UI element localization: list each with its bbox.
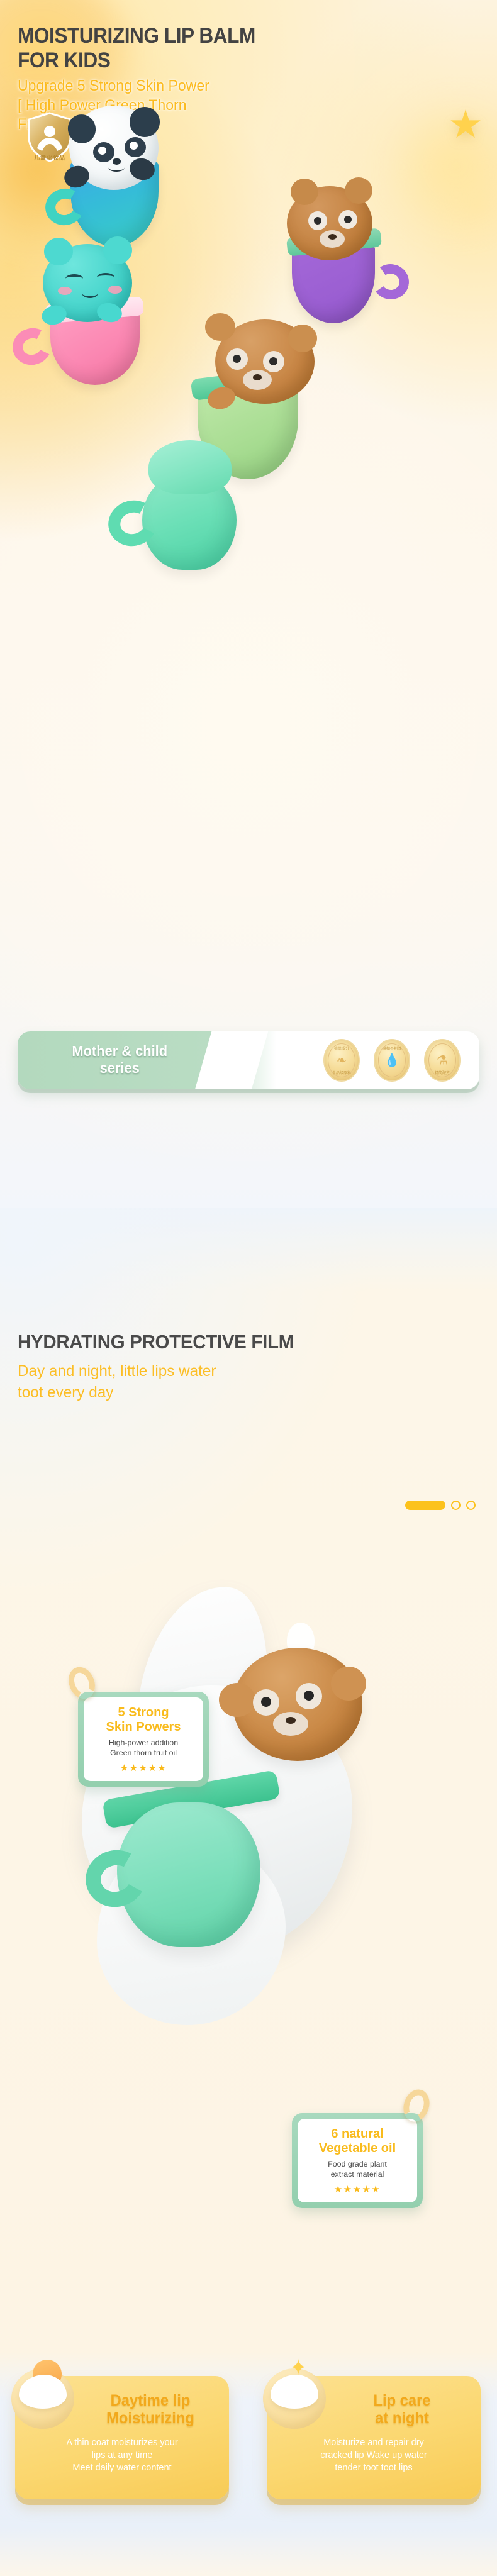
- day-night-benefits-section: Daytime lip Moisturizing A thin coat moi…: [0, 2352, 497, 2576]
- card-title: Daytime lip Moisturizing: [86, 2392, 214, 2427]
- tag-body: High-power addition Green thorn fruit oi…: [89, 1738, 198, 1758]
- eye: [93, 142, 114, 162]
- product-panda-lip-balm: [55, 106, 175, 250]
- eye: [253, 1689, 279, 1716]
- card-title-line-2: at night: [338, 2410, 466, 2428]
- seal-top-text: 温和不刺激: [375, 1045, 409, 1051]
- tag-title-line-2: Skin Powers: [89, 1720, 198, 1735]
- ear: [65, 111, 99, 147]
- rating-stars: ★★★★★: [89, 1762, 198, 1774]
- certification-seal-group: 植萃成分 ❧ 食品级原料 温和不刺激 💧 ⚗ 精简配方: [272, 1039, 461, 1082]
- herbal-ingredient-seal: 植萃成分 ❧ 食品级原料: [323, 1039, 360, 1082]
- star-decoration-icon: ★: [445, 106, 486, 146]
- daytime-lip-moisturizing-card[interactable]: Daytime lip Moisturizing A thin coat moi…: [15, 2376, 229, 2499]
- product-mint-cup-balm: [112, 440, 250, 585]
- character-head: [287, 186, 372, 260]
- eye: [125, 137, 146, 157]
- mother-child-series-banner[interactable]: Mother & child series 植萃成分 ❧ 食品级原料 温和不刺激…: [18, 1031, 479, 1089]
- pagination-dot[interactable]: [451, 1501, 461, 1510]
- ear: [127, 104, 163, 140]
- nose: [253, 374, 262, 380]
- water-drop-icon: 💧: [384, 1053, 400, 1069]
- lip-care-at-night-card[interactable]: ✦ Lip care at night Moisturize and repai…: [267, 2376, 481, 2499]
- tag-body-line-2: extract material: [303, 2169, 412, 2180]
- page-title-line-1: MOISTURIZING LIP BALM: [18, 24, 427, 48]
- card-title: Lip care at night: [338, 2392, 466, 2427]
- cup-handle: [370, 261, 412, 302]
- card-body-line-3: Meet daily water content: [24, 2462, 220, 2474]
- product-teal-bear-pink-cup: [24, 240, 156, 385]
- card-title-line-1: Lip care: [338, 2392, 466, 2410]
- hero-section: MOISTURIZING LIP BALM FOR KIDS Upgrade 5…: [0, 0, 497, 1207]
- section2-subtitle-line-1: Day and night, little lips water: [18, 1361, 396, 1382]
- section2-subtitle-line-2: toot every day: [18, 1382, 396, 1404]
- page-title: MOISTURIZING LIP BALM FOR KIDS: [18, 24, 427, 74]
- banner-label-line-2: series: [39, 1060, 201, 1077]
- card-title-line-1: Daytime lip: [86, 2392, 214, 2410]
- nose: [328, 234, 337, 240]
- carousel-pagination[interactable]: [405, 1501, 476, 1510]
- tag-title-line-1: 6 natural: [303, 2127, 412, 2141]
- hero-subtitle-line-1: Upgrade 5 Strong Skin Power: [18, 77, 356, 96]
- seal-top-text: 植萃成分: [325, 1045, 359, 1051]
- ear: [219, 1683, 255, 1717]
- product-bear-hero: [208, 1641, 396, 1830]
- sun-cloud-icon: [5, 2362, 81, 2433]
- eye: [65, 274, 83, 283]
- card-body-line-2: lips at any time: [24, 2449, 220, 2462]
- card-body-line-1: Moisturize and repair dry: [276, 2436, 472, 2449]
- product-landing-page: MOISTURIZING LIP BALM FOR KIDS Upgrade 5…: [0, 0, 497, 2576]
- banner-label: Mother & child series: [39, 1043, 201, 1076]
- card-body: Moisturize and repair dry cracked lip Wa…: [276, 2436, 472, 2474]
- section2-subtitle: Day and night, little lips water toot ev…: [18, 1361, 396, 1403]
- water-cycle-seal: 温和不刺激 💧: [374, 1039, 410, 1082]
- eye: [308, 211, 327, 230]
- five-strong-skin-powers-tag[interactable]: 5 Strong Skin Powers High-power addition…: [78, 1692, 209, 1787]
- card-title-line-2: Moisturizing: [86, 2410, 214, 2428]
- product-brown-bear-purple-cup: [271, 186, 396, 325]
- seal-bottom-text: 食品级原料: [325, 1070, 359, 1075]
- tag-body-line-1: High-power addition: [89, 1738, 198, 1748]
- section2-title: HYDRATING PROTECTIVE FILM: [18, 1331, 448, 1353]
- ear: [291, 179, 318, 205]
- tag-title: 5 Strong Skin Powers: [89, 1706, 198, 1735]
- pagination-dot[interactable]: [466, 1501, 476, 1510]
- cup-handle: [8, 323, 57, 370]
- cheek: [58, 287, 72, 295]
- card-body-line-3: tender toot toot lips: [276, 2462, 472, 2474]
- tag-title-line-1: 5 Strong: [89, 1706, 198, 1720]
- tag-body: Food grade plant extract material: [303, 2159, 412, 2180]
- card-body-line-2: cracked lip Wake up water: [276, 2449, 472, 2462]
- eye: [338, 210, 357, 229]
- page-title-line-2: FOR KIDS: [18, 48, 427, 73]
- leaf-icon: ❧: [337, 1053, 347, 1069]
- tag-body-line-2: Green thorn fruit oil: [89, 1748, 198, 1758]
- eye: [296, 1683, 322, 1709]
- tag-title: 6 natural Vegetable oil: [303, 2127, 412, 2156]
- flask-icon: ⚗: [437, 1053, 448, 1069]
- eye: [97, 273, 114, 282]
- mouth: [108, 164, 125, 172]
- ear: [44, 238, 73, 265]
- ear: [103, 236, 132, 264]
- eye: [226, 348, 248, 370]
- rating-stars: ★★★★★: [303, 2184, 412, 2195]
- card-body-line-1: A thin coat moisturizes your: [24, 2436, 220, 2449]
- hydrating-film-section: HYDRATING PROTECTIVE FILM Day and night,…: [0, 1207, 497, 2402]
- ear: [288, 325, 317, 352]
- eye: [263, 351, 284, 372]
- six-natural-vegetable-oil-tag[interactable]: 6 natural Vegetable oil Food grade plant…: [292, 2113, 423, 2208]
- ear: [331, 1667, 366, 1701]
- tag-title-line-2: Vegetable oil: [303, 2141, 412, 2156]
- moon-sparkle-icon: ✦: [257, 2362, 332, 2433]
- card-body: A thin coat moisturizes your lips at any…: [24, 2436, 220, 2474]
- ear: [345, 177, 372, 204]
- seal-bottom-text: 精简配方: [425, 1070, 459, 1075]
- refined-formula-seal: ⚗ 精简配方: [424, 1039, 461, 1082]
- ear: [205, 313, 235, 341]
- pagination-dot-active[interactable]: [405, 1501, 445, 1510]
- nose: [286, 1717, 296, 1724]
- mouth: [82, 288, 98, 298]
- cheek: [108, 286, 122, 294]
- snout: [273, 1712, 308, 1736]
- banner-label-line-1: Mother & child: [39, 1043, 201, 1060]
- tag-body-line-1: Food grade plant: [303, 2159, 412, 2170]
- cup-cap: [148, 440, 232, 494]
